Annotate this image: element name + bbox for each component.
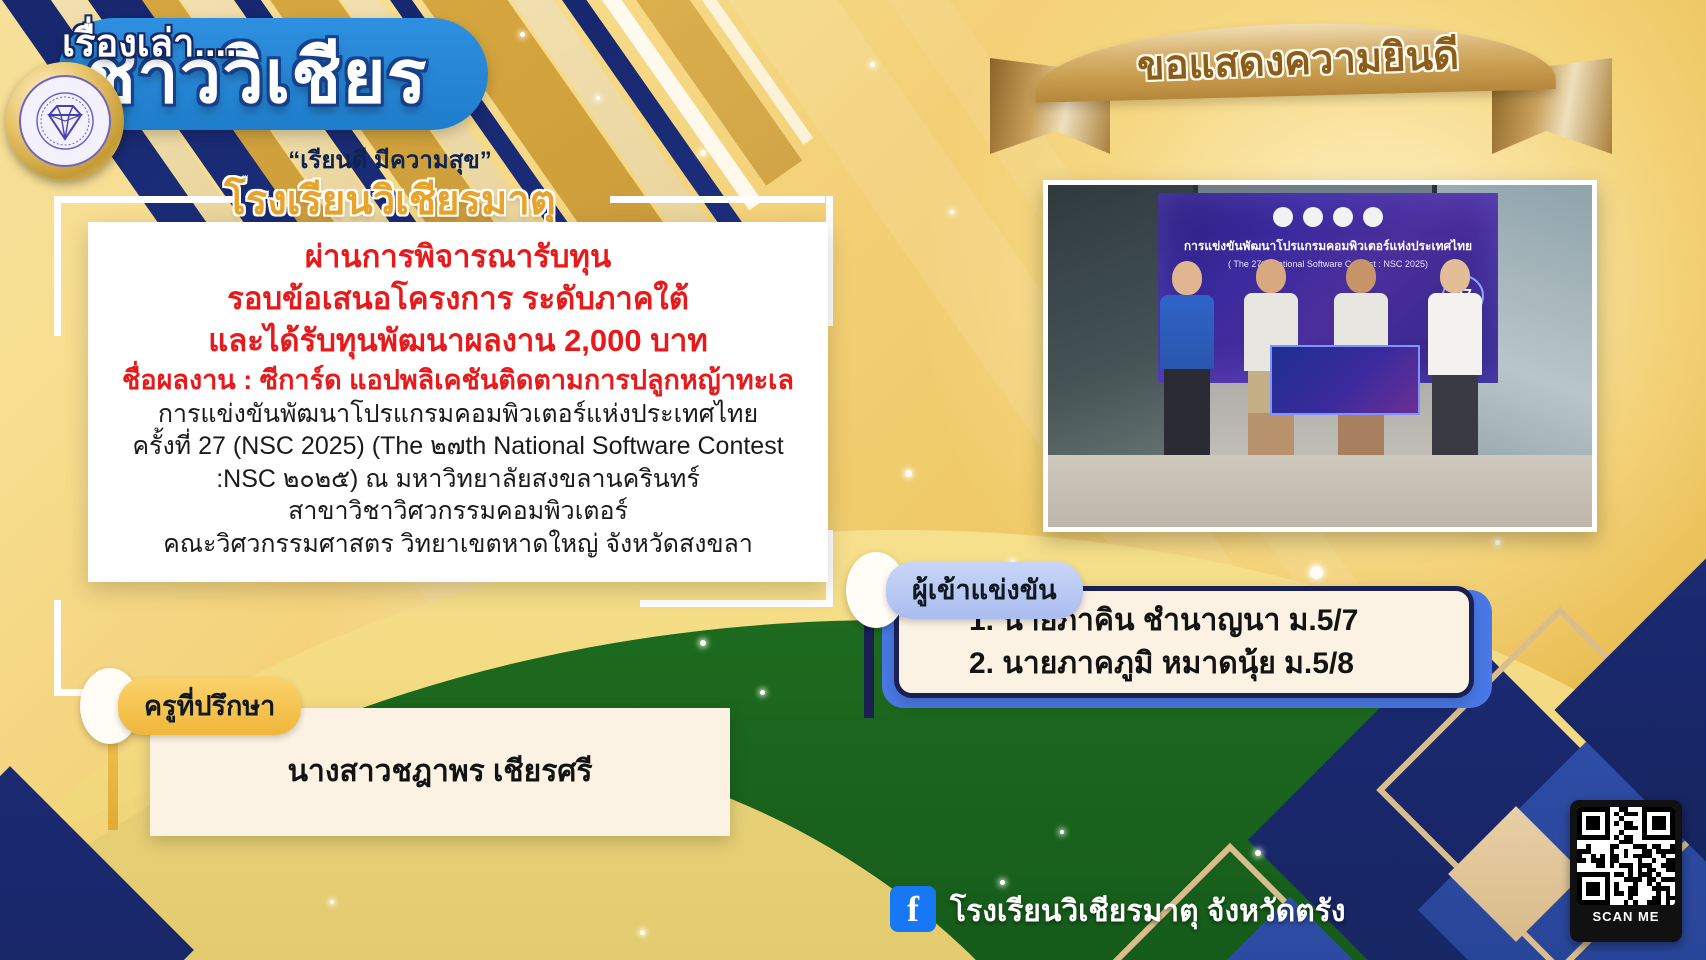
poster-canvas: เรื่องเล่า.... ชาววิเชียร “เรียนดี มีควา… [0, 0, 1706, 960]
sparkle [596, 96, 600, 100]
advisor-name: นางสาวชฎาพร เชียรศรี [287, 750, 592, 794]
photo-floor [1048, 455, 1592, 527]
photo-person-4 [1428, 259, 1482, 455]
announcement-highlight-3: และได้รับทุนพัฒนาผลงาน 2,000 บาท [102, 320, 814, 362]
announcement-highlight-2: รอบข้อเสนอโครงการ ระดับภาคใต้ [102, 278, 814, 320]
photo-banner-logos [1158, 207, 1498, 227]
bracket-bottom-right-h [640, 600, 833, 607]
stripe-white-2 [660, 0, 813, 145]
qr-code-label: SCAN ME [1577, 909, 1675, 924]
photo-person-1 [1160, 261, 1214, 455]
photo-award-sign [1270, 345, 1420, 415]
announcement-body-1: การแข่งขันพัฒนาโปรแกรมคอมพิวเตอร์แห่งประ… [102, 398, 814, 431]
facebook-icon[interactable]: f [890, 886, 936, 932]
project-title: ชื่อผลงาน : ซีการ์ด แอปพลิเคชันติดตามการ… [102, 362, 814, 398]
congratulations-ribbon: ขอแสดงความยินดี [980, 6, 1600, 146]
sponsor-logo-icon [1273, 207, 1293, 227]
team-photo: การแข่งขันพัฒนาโปรแกรมคอมพิวเตอร์แห่งประ… [1043, 180, 1597, 532]
photo-banner-title: การแข่งขันพัฒนาโปรแกรมคอมพิวเตอร์แห่งประ… [1158, 237, 1498, 256]
sparkle [760, 690, 765, 695]
school-seal [6, 62, 124, 180]
announcement-body-3: :NSC ๒๐๒๕) ณ มหาวิทยาลัยสงขลานครินทร์ [102, 463, 814, 496]
sparkle [950, 210, 954, 214]
diamond-tan-1 [1448, 806, 1584, 942]
sparkle [700, 640, 706, 646]
sparkle [1495, 540, 1500, 545]
divider-right [610, 196, 825, 203]
sparkle [905, 470, 912, 477]
qr-code-image [1577, 807, 1675, 905]
qr-code-card[interactable]: SCAN ME [1570, 800, 1682, 942]
announcement-body-4: สาขาวิชาวิศวกรรมคอมพิวเตอร์ [102, 495, 814, 528]
header-kicker: เรื่องเล่า.... [62, 12, 237, 73]
announcement-body-5: คณะวิศวกรรมศาสตร วิทยาเขตหาดใหญ่ จังหวัด… [102, 528, 814, 561]
sparkle [870, 62, 875, 67]
sparkle [520, 32, 525, 37]
stripe-gold-4 [594, 0, 802, 186]
announcement-card: ผ่านการพิจารณารับทุน รอบข้อเสนอโครงการ ร… [88, 222, 828, 582]
advisor-pill-label: ครูที่ปรึกษา [118, 678, 301, 735]
announcement-body-2: ครั้งที่ 27 (NSC 2025) (The ๒๗th Nationa… [102, 430, 814, 463]
participants-panel: 1. นายภาคิน ชำนาญนา ม.5/7 2. นายภาคภูมิ … [846, 552, 1526, 732]
sparkle [640, 930, 645, 935]
participant-2: 2. นายภาคภูมิ หมาดนุ้ย ม.5/8 [969, 642, 1354, 686]
sponsor-logo-icon [1303, 207, 1323, 227]
footer-text: โรงเรียนวิเชียรมาตุ จังหวัดตรัง [950, 888, 1346, 935]
announcement-highlight-1: ผ่านการพิจารณารับทุน [102, 236, 814, 278]
advisor-panel: นางสาวชฎาพร เชียรศรี ครูที่ปรึกษา [50, 660, 750, 850]
sparkle [700, 150, 706, 156]
sparkle [330, 900, 334, 904]
sponsor-logo-icon [1363, 207, 1383, 227]
participants-pill-label: ผู้เข้าแข่งขัน [886, 562, 1083, 619]
sparkle [1060, 830, 1064, 834]
diamond-seal-icon [19, 75, 111, 167]
sponsor-logo-icon [1333, 207, 1353, 227]
bracket-top-left-v [54, 196, 61, 336]
sparkle [1000, 880, 1005, 885]
sparkle [1255, 850, 1261, 856]
